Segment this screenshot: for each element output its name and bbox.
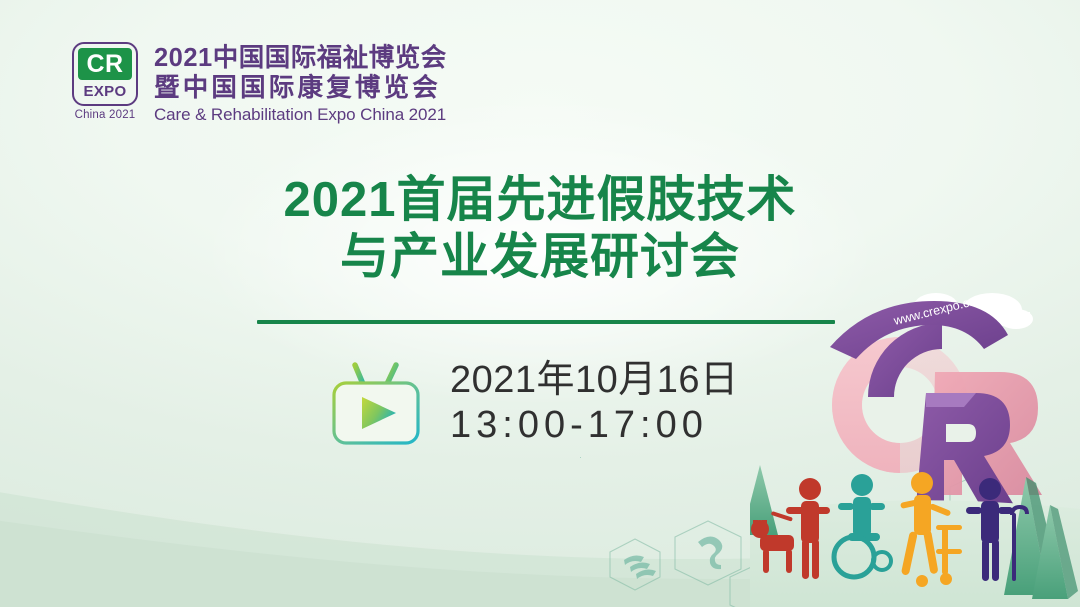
event-title-line1: 2021首届先进假肢技术 bbox=[0, 172, 1080, 229]
expo-name-block: 2021中国国际福祉博览会 暨中国国际康复博览会 Care & Rehabili… bbox=[154, 42, 447, 126]
event-date: 2021年10月16日 bbox=[450, 358, 739, 403]
expo-name-cn-line2: 暨中国国际康复博览会 bbox=[154, 73, 447, 103]
expo-name-en-line: Care & Rehabilitation Expo China 2021 bbox=[154, 104, 447, 126]
event-time: 13:00-17:00 bbox=[450, 403, 739, 448]
cr-illustration: www.crexpo.cn bbox=[750, 277, 1080, 607]
logo-expo-text: EXPO bbox=[84, 82, 127, 101]
tv-play-icon bbox=[330, 359, 422, 447]
expo-name-cn-line1: 2021中国国际福祉博览会 bbox=[154, 43, 447, 73]
logo-cr-text: CR bbox=[78, 48, 132, 80]
schedule-row: 2021年10月16日 13:00-17:00 bbox=[330, 358, 739, 448]
title-divider bbox=[257, 320, 835, 324]
schedule-text: 2021年10月16日 13:00-17:00 bbox=[450, 358, 739, 448]
logo-china-text: China 2021 bbox=[75, 109, 136, 121]
event-title: 2021首届先进假肢技术 与产业发展研讨会 bbox=[0, 172, 1080, 286]
poster-canvas: CR EXPO China 2021 2021中国国际福祉博览会 暨中国国际康复… bbox=[0, 0, 1080, 607]
logo-box: CR EXPO bbox=[72, 42, 138, 106]
expo-logo-header: CR EXPO China 2021 2021中国国际福祉博览会 暨中国国际康复… bbox=[68, 42, 447, 126]
cr-expo-logo-mark: CR EXPO China 2021 bbox=[68, 42, 142, 121]
